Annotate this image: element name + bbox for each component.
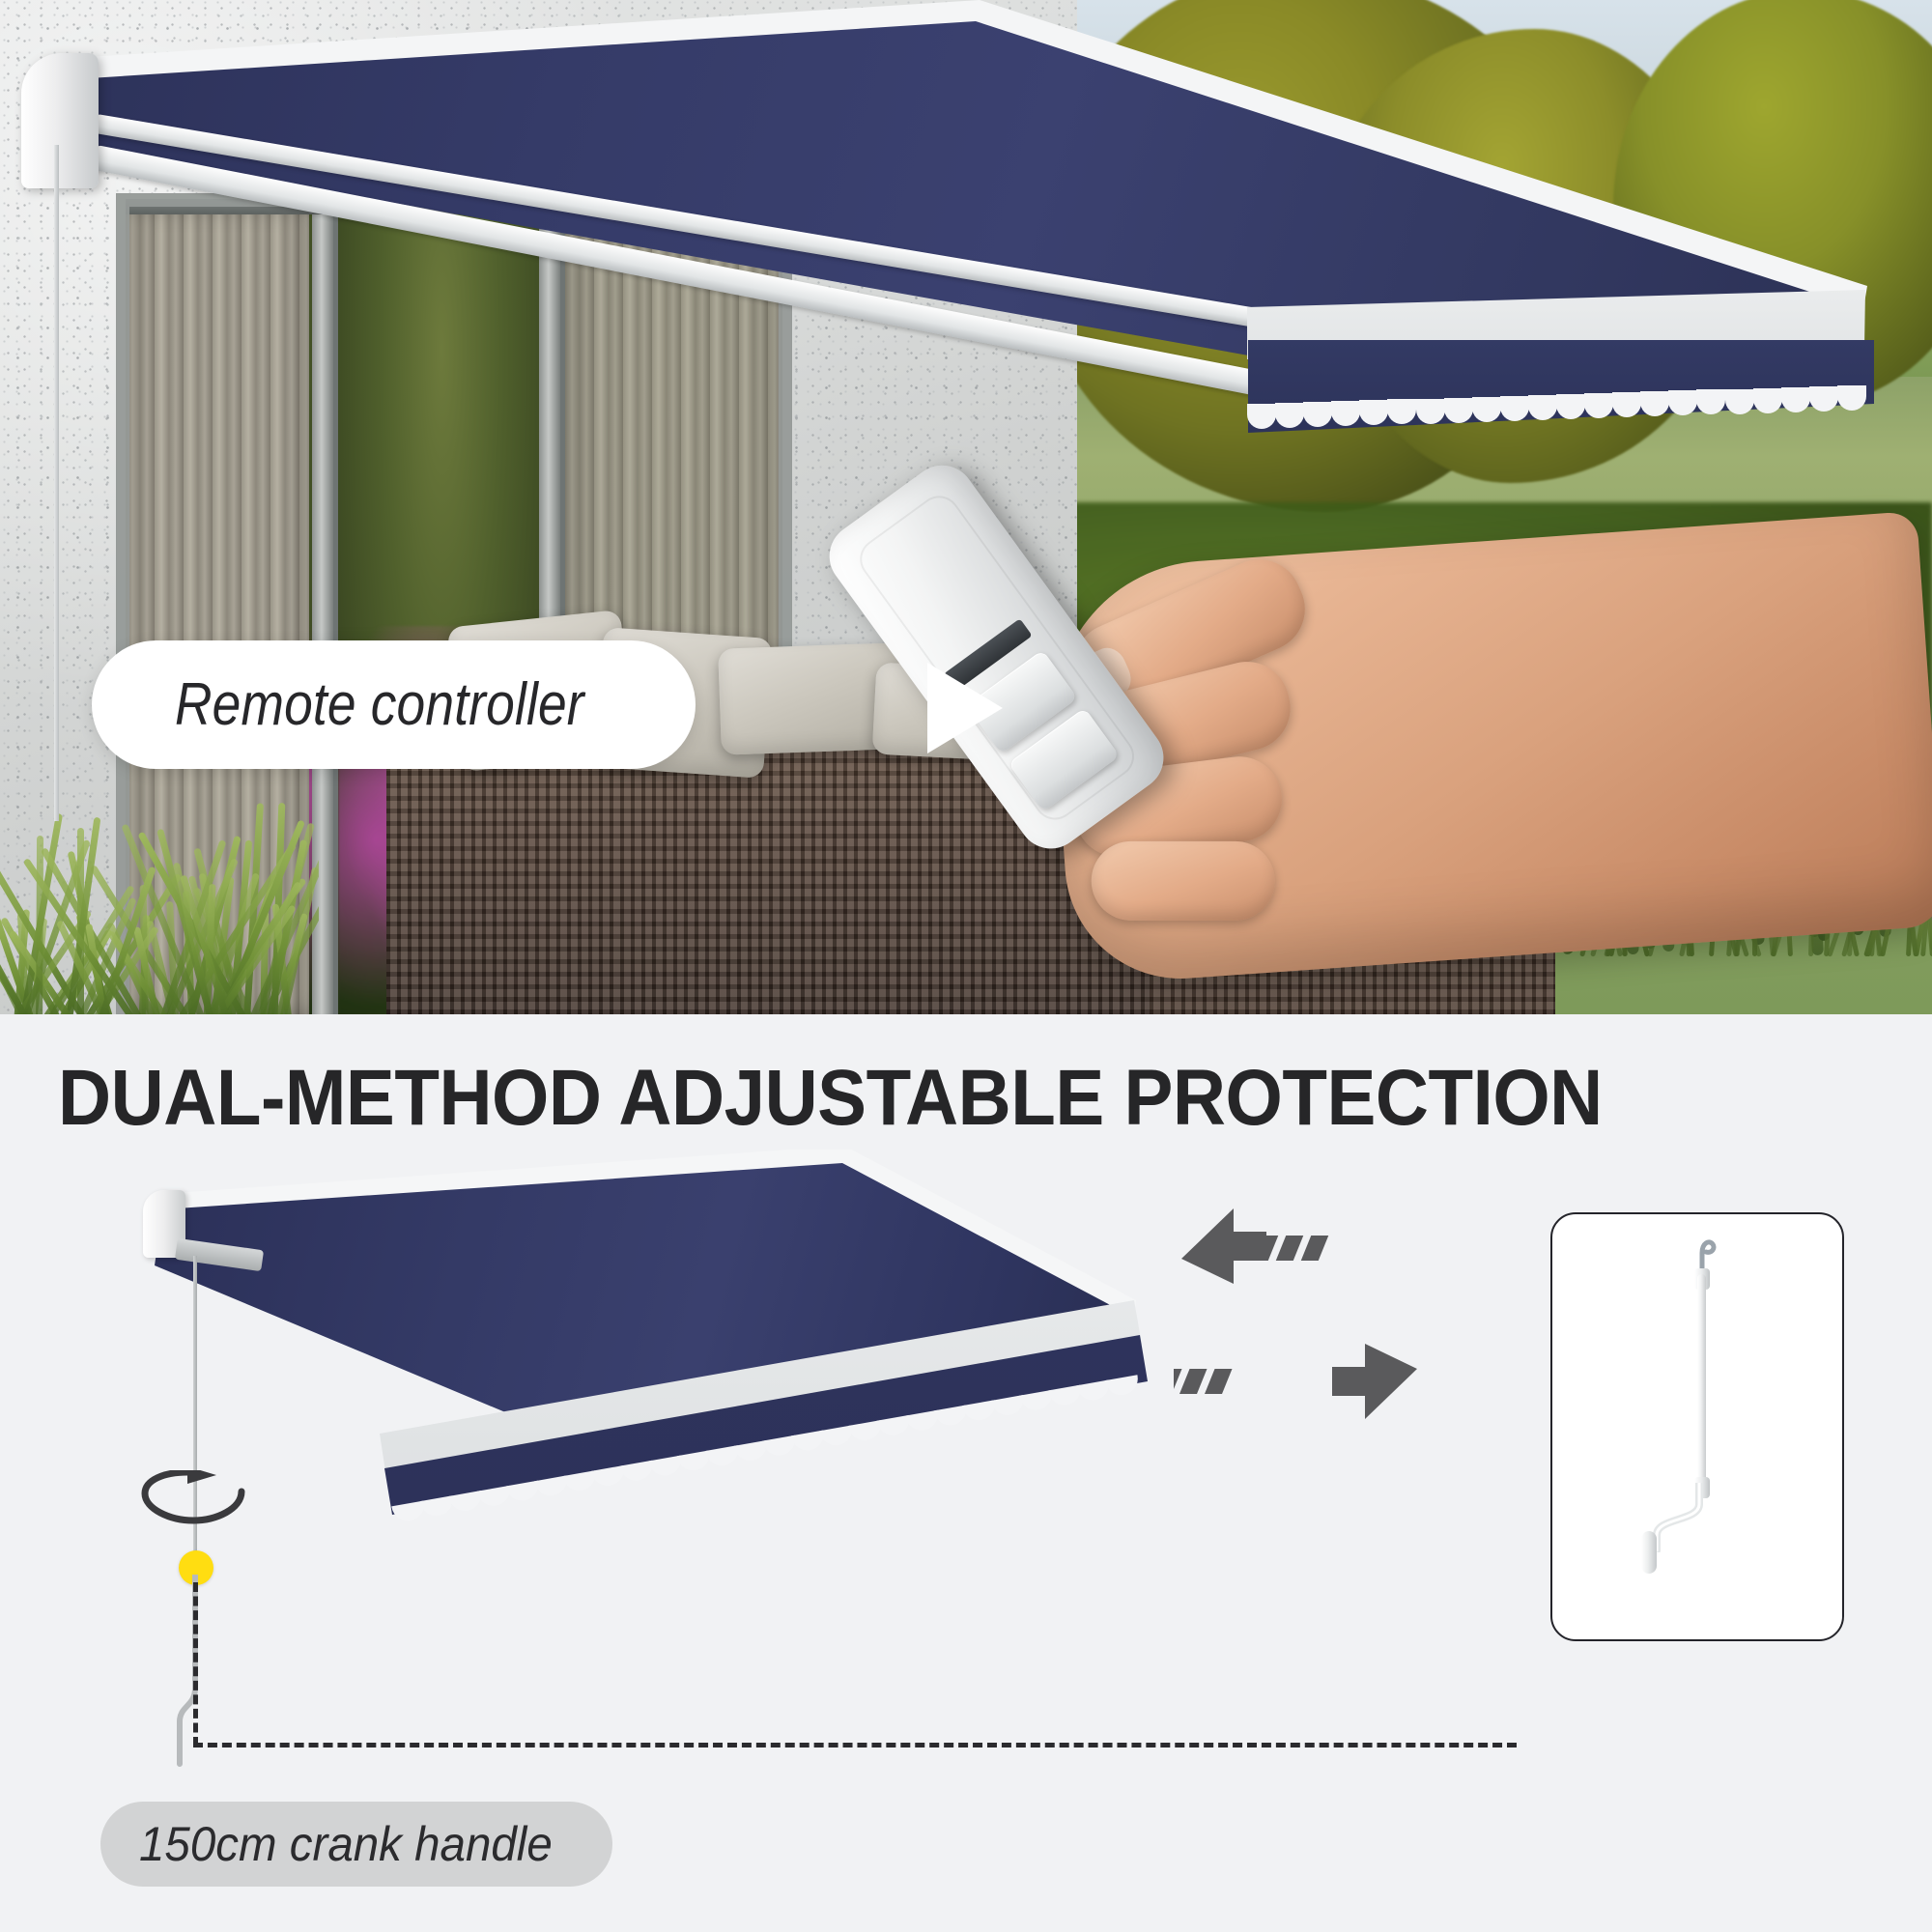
chip-label: 150cm crank handle (139, 1816, 553, 1872)
finger (1092, 841, 1275, 921)
lifestyle-photo: Remote controller (0, 0, 1932, 1014)
crank-shaft (1697, 1274, 1706, 1485)
measure-line-horizontal (193, 1743, 1517, 1747)
wall-mount-bracket (21, 53, 99, 188)
callout-label: Remote controller (175, 670, 584, 739)
crank-handle-product-card (1550, 1212, 1844, 1641)
circular-arrow-icon (133, 1470, 259, 1528)
pull-cable (54, 145, 59, 821)
remote-controller-callout: Remote controller (92, 640, 696, 769)
measure-line-vertical (193, 1582, 198, 1747)
crank-handle-lower (174, 1575, 232, 1768)
crank-rod (193, 1256, 197, 1584)
infographic-canvas: Remote controller DUAL-METHOD ADJUSTABLE… (0, 0, 1932, 1932)
crank-grip (1641, 1531, 1657, 1574)
page-title: DUAL-METHOD ADJUSTABLE PROTECTION (58, 1053, 1765, 1144)
triangle-right-icon (927, 663, 1003, 753)
status-badge: 150cm crank handle (100, 1802, 612, 1887)
extend-retract-double-arrow (1174, 1203, 1425, 1425)
foreground-plant (0, 792, 319, 1014)
